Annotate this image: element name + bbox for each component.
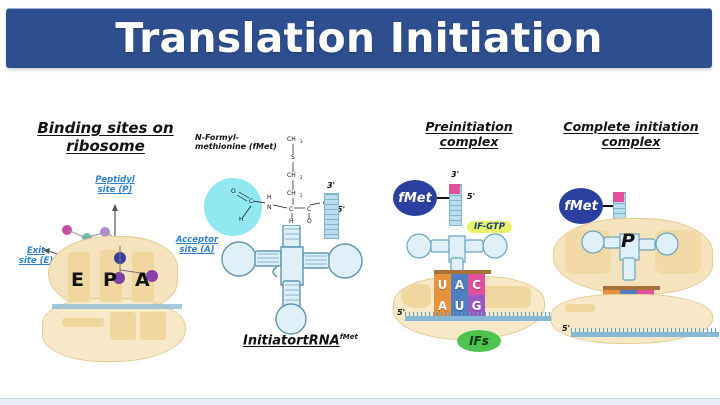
- fmet-circle-preinitiation: fMet: [393, 180, 437, 216]
- svg-text:3: 3: [300, 139, 303, 144]
- initiator-trna-caption-text: InitiatortRNA: [243, 333, 340, 348]
- preinitiation-heading-line2: complex: [440, 134, 499, 149]
- complete-mrna-5prime: 5': [562, 324, 570, 333]
- preinit-3prime-label: 3': [451, 170, 459, 179]
- preinit-anticodon-nt-2: A: [451, 274, 468, 295]
- preinit-acceptor-nt-a: [449, 184, 460, 194]
- svg-text:O: O: [307, 218, 312, 225]
- ifs-label: IFs: [469, 334, 489, 348]
- complete-small-groove: [565, 304, 595, 312]
- binding-sites-heading: Binding sites on ribosome: [8, 120, 203, 155]
- if-gtp-highlight: IF-GTP: [467, 214, 512, 233]
- if-gtp-label: IF-GTP: [467, 221, 512, 233]
- fmet-bond-line-complete: [603, 205, 613, 207]
- complete-heading-line2: complex: [602, 134, 661, 149]
- preinit-codon-anticodon: U A C A U G: [434, 270, 491, 316]
- svg-text:2: 2: [300, 193, 303, 198]
- trna-3prime-label: 3': [327, 181, 335, 190]
- trna-cloverleaf: [217, 225, 367, 335]
- mrna-strand-left: [52, 304, 182, 309]
- svg-text:CH: CH: [287, 136, 296, 143]
- complete-p-site-label: P: [621, 230, 635, 252]
- preinit-mrna-strand: [405, 316, 555, 321]
- svg-text:CH: CH: [287, 190, 296, 197]
- fmet-circle-complete: fMet: [559, 188, 603, 224]
- svg-text:CH: CH: [287, 172, 296, 179]
- page-title: Translation Initiation: [115, 14, 602, 62]
- svg-text:S: S: [291, 154, 295, 161]
- binding-sites-heading-line1: Binding sites on: [37, 119, 173, 137]
- fmet-circle-label: fMet: [398, 191, 432, 206]
- ribosome-small-slot-2: [140, 312, 166, 340]
- svg-text:C: C: [249, 198, 253, 205]
- svg-text:H: H: [267, 194, 272, 201]
- preinitiation-heading-line1: Preinitiation: [425, 119, 512, 134]
- complete-heading-line1: Complete initiation: [563, 119, 698, 134]
- complete-heading: Complete initiation complex: [545, 120, 717, 150]
- preinit-anticodon-nt-1: U: [434, 274, 451, 295]
- svg-text:H: H: [239, 216, 244, 223]
- panel-initiator-trna: N-Formyl- methionine (fMet) CH3 S CH2 CH…: [195, 125, 395, 370]
- svg-text:C: C: [289, 206, 293, 213]
- initiator-trna-superscript: fMet: [340, 333, 358, 341]
- svg-text:N: N: [267, 204, 272, 211]
- site-letter-p: P: [103, 269, 117, 291]
- fmet-bond-line: [437, 197, 449, 199]
- complete-mrna-strand: [571, 332, 719, 337]
- label-peptidyl-site: Peptidyl site (P): [85, 175, 145, 195]
- panel-complete-complex: Complete initiation complex fMet P U A C: [545, 118, 720, 368]
- panel-binding-sites: Binding sites on ribosome Peptidyl site …: [0, 112, 215, 392]
- svg-text:O: O: [231, 188, 236, 195]
- ribosome-small-groove: [62, 318, 104, 327]
- preinitiation-heading: Preinitiation complex: [389, 120, 549, 150]
- ifs-highlight: IFs: [457, 330, 501, 352]
- label-peptidyl-line2: site (P): [98, 185, 133, 195]
- initiator-trna-caption: InitiatortRNAfMet: [243, 333, 393, 349]
- svg-text:C: C: [307, 206, 311, 213]
- site-letter-a: A: [135, 269, 150, 291]
- fmet-circle-complete-label: fMet: [564, 199, 598, 214]
- preinit-anticodon-nt-3: C: [468, 274, 485, 295]
- site-letter-e: E: [71, 269, 84, 291]
- complete-acceptor-nt-a: [613, 192, 624, 202]
- svg-text:2: 2: [300, 175, 303, 180]
- title-banner: Translation Initiation: [6, 8, 712, 68]
- label-peptidyl-line1: Peptidyl: [95, 175, 134, 185]
- preinit-mrna-5prime: 5': [397, 308, 405, 317]
- ribosome-small-slot-1: [110, 312, 136, 340]
- panel-preinitiation-complex: Preinitiation complex fMet 3' 5' IF-GTP …: [385, 118, 555, 368]
- preinit-5prime-label: 5': [467, 192, 475, 201]
- preinit-subunit-lobe-left: [401, 284, 431, 308]
- binding-sites-heading-line2: ribosome: [66, 137, 145, 155]
- svg-text:H: H: [289, 218, 294, 225]
- preinit-anticodon-row: U A C: [434, 274, 491, 295]
